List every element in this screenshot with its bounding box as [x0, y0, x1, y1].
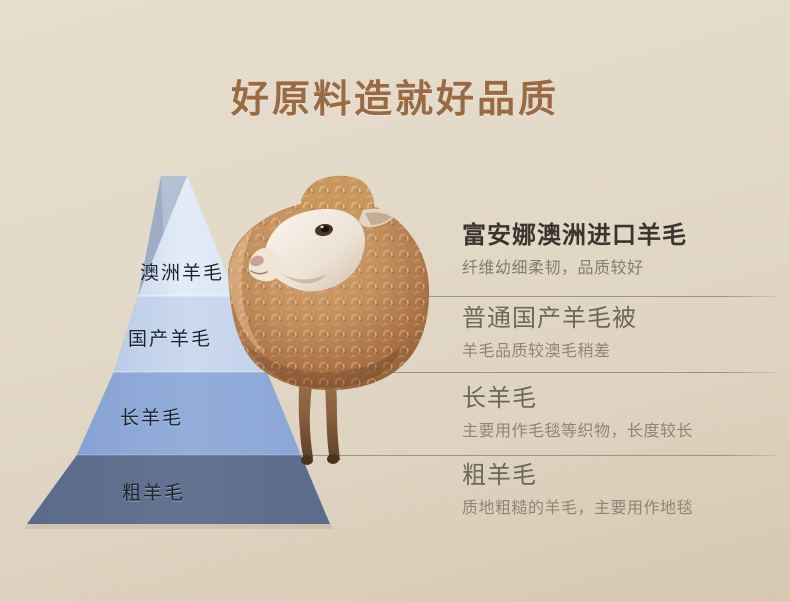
info-block-2: 普通国产羊毛被 羊毛品质较澳毛稍差: [462, 305, 782, 361]
info-subtitle-4: 质地粗糙的羊毛，主要用作地毯: [462, 499, 782, 518]
info-subtitle-2: 羊毛品质较澳毛稍差: [462, 342, 782, 361]
pyramid-tier-label-4: 粗羊毛: [122, 478, 185, 505]
sheep-illustration: [205, 168, 435, 478]
info-subtitle-1: 纤维幼细柔韧，品质较好: [462, 259, 782, 278]
info-heading-4: 粗羊毛: [462, 462, 782, 490]
info-heading-2: 普通国产羊毛被: [462, 305, 782, 333]
info-heading-1: 富安娜澳洲进口羊毛: [462, 222, 782, 250]
info-heading-3: 长羊毛: [462, 385, 782, 413]
pyramid-tier-label-3: 长羊毛: [120, 403, 183, 430]
info-subtitle-3: 主要用作毛毯等织物，长度较长: [462, 422, 782, 441]
info-block-1: 富安娜澳洲进口羊毛 纤维幼细柔韧，品质较好: [462, 222, 782, 278]
info-block-3: 长羊毛 主要用作毛毯等织物，长度较长: [462, 385, 782, 441]
pyramid-tier-label-2: 国产羊毛: [128, 324, 212, 351]
info-block-4: 粗羊毛 质地粗糙的羊毛，主要用作地毯: [462, 462, 782, 518]
